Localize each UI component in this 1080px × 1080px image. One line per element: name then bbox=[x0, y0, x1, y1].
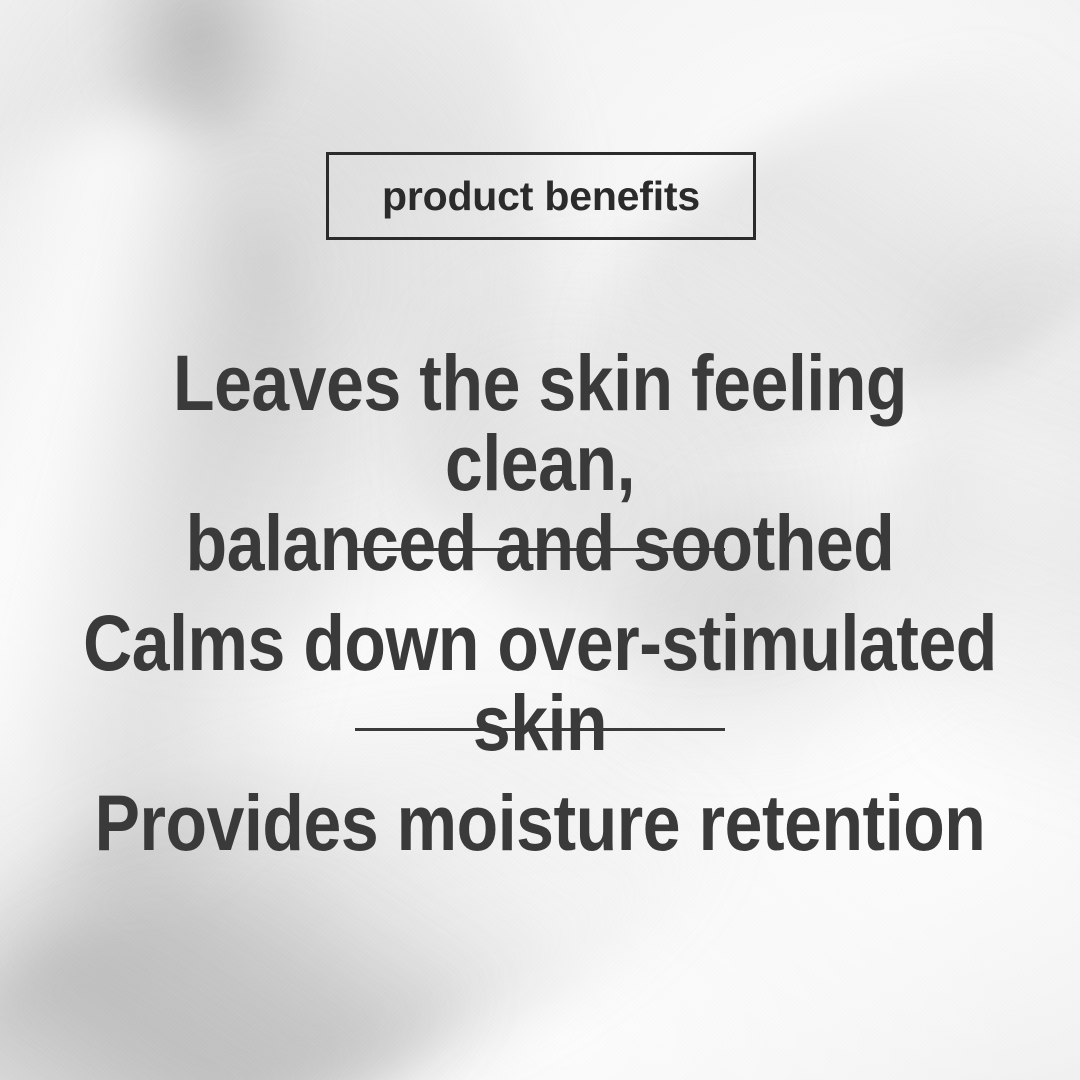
product-benefits-badge: product benefits bbox=[326, 152, 756, 240]
product-benefits-graphic: product benefits Leaves the skin feeling… bbox=[0, 0, 1080, 1080]
benefit-divider-2 bbox=[355, 728, 725, 731]
benefit-item-1: Leaves the skin feeling clean, balanced … bbox=[76, 343, 1005, 583]
content-layer: product benefits Leaves the skin feeling… bbox=[0, 0, 1080, 1080]
benefit-item-3: Provides moisture retention bbox=[76, 783, 1005, 863]
product-benefits-badge-label: product benefits bbox=[382, 176, 700, 217]
benefit-item-2: Calms down over-stimulated skin bbox=[76, 603, 1005, 763]
benefit-divider-1 bbox=[355, 548, 725, 551]
